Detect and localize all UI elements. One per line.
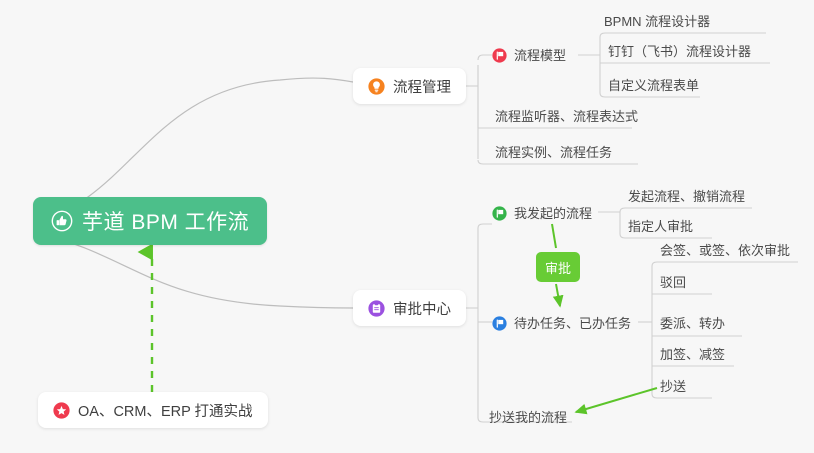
leaf-label: 指定人审批 [628, 220, 693, 233]
thumbs-up-icon [51, 210, 73, 232]
flag-icon-green [492, 206, 507, 221]
leaf-reject[interactable]: 驳回 [657, 273, 689, 295]
node-process-model[interactable]: 流程模型 [492, 44, 566, 66]
root-label: 芋道 BPM 工作流 [82, 206, 249, 236]
arrow-initiated-to-tag [552, 224, 556, 248]
leaf-label: 钉钉（飞书）流程设计器 [608, 45, 751, 58]
arrow-tag-to-todo [556, 284, 560, 306]
arrow-cc-to-ccme [576, 388, 657, 412]
node-process-instance-task[interactable]: 流程实例、流程任务 [492, 143, 615, 165]
node-my-initiated-processes[interactable]: 我发起的流程 [492, 202, 592, 224]
lightbulb-icon [368, 78, 385, 95]
leaf-countersign-orsign-sequential[interactable]: 会签、或签、依次审批 [657, 241, 793, 263]
leaf-label: 加签、减签 [660, 348, 725, 361]
leaf-label: 抄送 [660, 380, 686, 393]
leaf-custom-process-form[interactable]: 自定义流程表单 [605, 76, 702, 98]
tag-label: 审批 [545, 258, 571, 277]
edge-ac-to-initiated [478, 224, 492, 228]
leaf-label: 会签、或签、依次审批 [660, 244, 790, 257]
branch-node-process-management[interactable]: 流程管理 [353, 68, 466, 104]
flag-icon-blue [492, 316, 507, 331]
node-cc-to-me-processes[interactable]: 抄送我的流程 [486, 408, 570, 430]
leaf-label: 委派、转办 [660, 317, 725, 330]
node-label-my-initiated: 我发起的流程 [514, 207, 592, 220]
node-process-listener-expression[interactable]: 流程监听器、流程表达式 [492, 107, 641, 129]
leaf-bpmn-designer[interactable]: BPMN 流程设计器 [601, 12, 713, 34]
edge-pm-to-process-model [478, 55, 492, 60]
mindmap-canvas: 芋道 BPM 工作流 OA、CRM、ERP 打通实战 流程管理 [0, 0, 814, 453]
node-todo-done-tasks[interactable]: 待办任务、已办任务 [492, 312, 631, 334]
leaf-dingtalk-designer[interactable]: 钉钉（飞书）流程设计器 [605, 42, 754, 64]
leaf-cc[interactable]: 抄送 [657, 377, 689, 399]
leaf-delegate-transfer[interactable]: 委派、转办 [657, 314, 728, 336]
callout-node-oa-crm-erp[interactable]: OA、CRM、ERP 打通实战 [38, 392, 268, 428]
callout-label: OA、CRM、ERP 打通实战 [78, 400, 253, 421]
leaf-label: 驳回 [660, 276, 686, 289]
leaf-launch-cancel-process[interactable]: 发起流程、撤销流程 [625, 187, 748, 209]
root-node[interactable]: 芋道 BPM 工作流 [33, 197, 267, 245]
node-label: 流程监听器、流程表达式 [495, 110, 638, 123]
leaf-label: 自定义流程表单 [608, 79, 699, 92]
branch-label-approval-center: 审批中心 [393, 298, 451, 319]
leaf-label: 发起流程、撤销流程 [628, 190, 745, 203]
node-label: 流程实例、流程任务 [495, 146, 612, 159]
clipboard-icon [368, 300, 385, 317]
branch-node-approval-center[interactable]: 审批中心 [353, 290, 466, 326]
node-label-process-model: 流程模型 [514, 49, 566, 62]
annotation-tag-approval: 审批 [536, 252, 580, 282]
branch-label-process-management: 流程管理 [393, 76, 451, 97]
node-label: 抄送我的流程 [489, 411, 567, 424]
node-label-todo-done-tasks: 待办任务、已办任务 [514, 317, 631, 330]
star-icon [53, 402, 70, 419]
flag-icon-red [492, 48, 507, 63]
leaf-add-remove-sign[interactable]: 加签、减签 [657, 345, 728, 367]
leaf-designee-approval[interactable]: 指定人审批 [625, 217, 696, 239]
leaf-label: BPMN 流程设计器 [604, 15, 710, 28]
